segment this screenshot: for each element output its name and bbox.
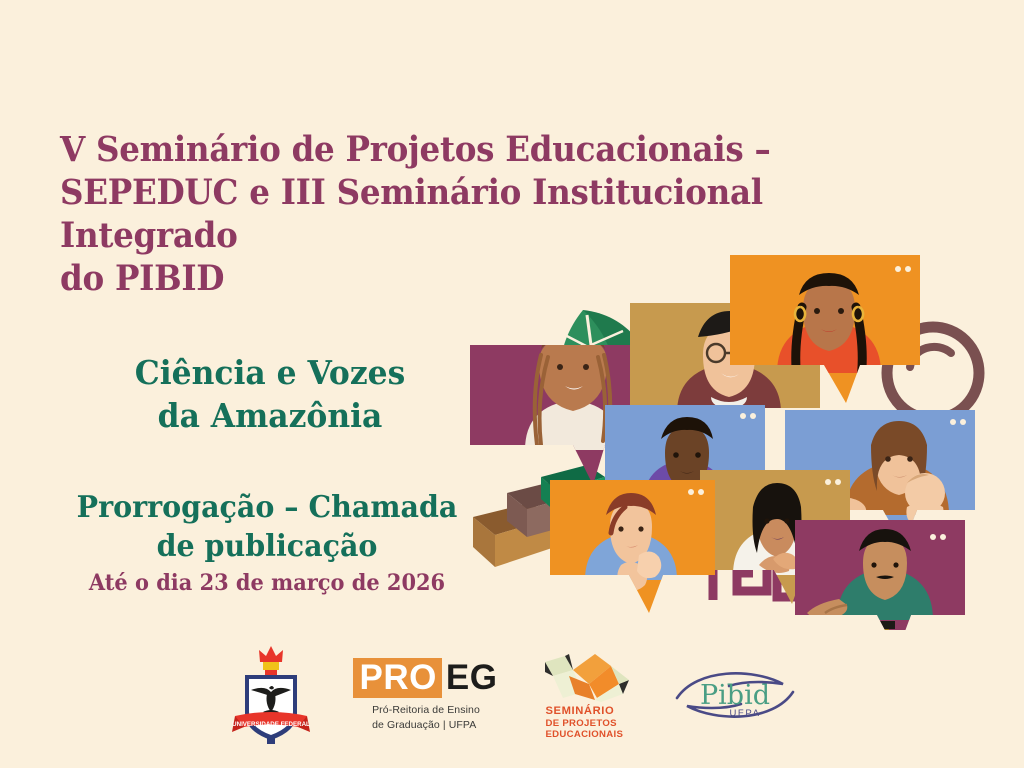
proeg-pro-text: PRO [353,658,442,698]
call-line-2: de publicação [63,527,472,566]
proeg-eg-text: EG [442,658,500,698]
proeg-sub-line-1: Pró-Reitoria de Ensino [372,703,480,717]
figure-man-signing-blue-polo [550,480,715,613]
pibid-sub-text: UFPA [730,708,761,719]
logo-pibid: Pibid UFPA Pibid UFPA [675,666,795,724]
event-theme: Ciência e Vozes da Amazônia [60,352,480,438]
theme-line-1: Ciência e Vozes [71,352,470,395]
sepeduc-line-2: DE PROJETOS [545,718,635,729]
logo-bar: UNIVERSIDADE FEDERAL UNIVERSIDADE FEDERA… [0,644,1024,746]
logo-sepeduc: SEMINÁRIO DE PROJETOS EDUCACIONAIS [539,650,635,740]
logo-proeg: PRO EG Pró-Reitoria de Ensino de Graduaç… [353,658,500,732]
illustration-collage [455,255,1015,630]
logo-ufpa: UNIVERSIDADE FEDERAL UNIVERSIDADE FEDERA… [229,644,313,746]
title-line-1: V Seminário de Projetos Educacionais – [60,128,897,171]
call-for-publication: Prorrogação – Chamada de publicação Até … [52,488,482,598]
sepeduc-origami-icon [539,650,635,702]
ufpa-ribbon-text: UNIVERSIDADE FEDERAL [232,721,310,728]
theme-line-2: da Amazônia [71,395,470,438]
ufpa-crest-icon: UNIVERSIDADE FEDERAL [229,644,313,746]
sepeduc-line-3: EDUCACIONAIS [545,729,635,740]
call-deadline: Até o dia 23 de março de 2026 [63,570,472,598]
pibid-icon: Pibid UFPA [675,666,795,724]
poster-canvas: V Seminário de Projetos Educacionais – S… [0,0,1024,768]
title-line-2: SEPEDUC e III Seminário Institucional In… [60,171,897,257]
proeg-sub-line-2: de Graduação | UFPA [372,718,480,732]
call-line-1: Prorrogação – Chamada [63,488,472,527]
figure-man-green-shirt-gesturing [795,520,965,630]
sepeduc-line-1: SEMINÁRIO [545,705,635,718]
pibid-wordmark: Pibid [700,680,770,711]
